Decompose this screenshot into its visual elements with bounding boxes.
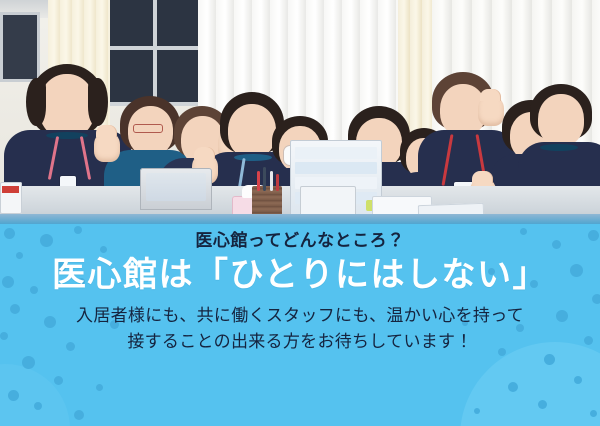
staff-photo — [0, 0, 600, 224]
desk-box-red-label — [0, 182, 22, 214]
pen-icon — [257, 171, 260, 191]
laptop-screen — [146, 173, 206, 201]
recruitment-banner: 医心館ってどんなところ？ 医心館は「ひとりにはしない」 入居者様にも、共に働くス… — [0, 0, 600, 426]
laptop-icon — [140, 168, 212, 210]
main-headline: 医心館は「ひとりにはしない」 — [52, 255, 548, 295]
glasses-icon — [133, 124, 163, 133]
document-slip — [295, 147, 377, 159]
collar — [540, 144, 578, 151]
face — [39, 74, 95, 138]
face — [538, 94, 584, 146]
subtext-line-2: 接することの出来る方をお待ちしています！ — [127, 329, 472, 355]
kicker-heading: 医心館ってどんなところ？ — [195, 231, 404, 251]
subtext-line-1: 入居者様にも、共に働くスタッフにも、温かい心を持って — [76, 303, 524, 329]
waving-hand — [94, 132, 120, 162]
pen-icon-3 — [270, 171, 273, 191]
pen-icon-4 — [276, 174, 279, 191]
hair-side — [26, 78, 46, 126]
pen-icon-2 — [263, 167, 266, 191]
counter-edge — [0, 214, 600, 224]
document-slip — [295, 162, 377, 174]
message-band: 医心館ってどんなところ？ 医心館は「ひとりにはしない」 入居者様にも、共に働くス… — [0, 224, 600, 426]
message-text-block: 医心館ってどんなところ？ 医心館は「ひとりにはしない」 入居者様にも、共に働くス… — [0, 224, 600, 426]
